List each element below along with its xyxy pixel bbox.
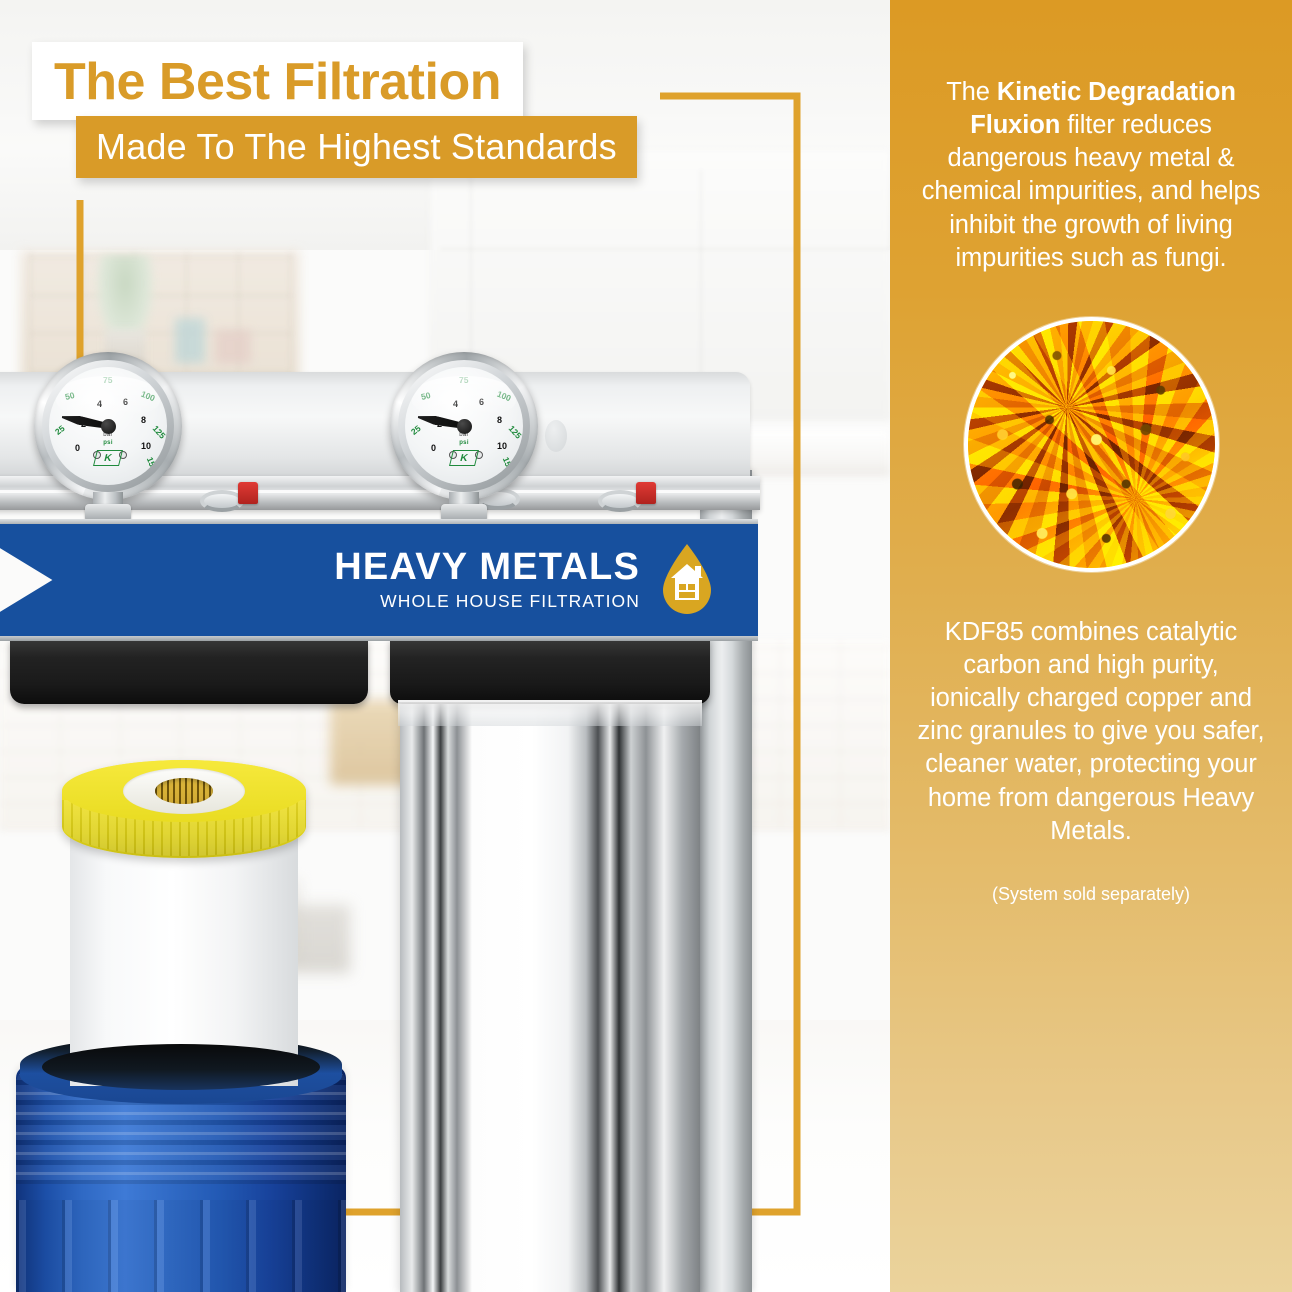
gauge-tick-psi: 75	[459, 375, 468, 385]
manifold-emblem	[545, 420, 567, 452]
housing-oring	[42, 1044, 320, 1090]
infographic-stage: 0 2 4 6 8 10 0 25 50 75 100 125 150 bar …	[0, 0, 1292, 1292]
gauge-tick-bar: 8	[497, 415, 502, 425]
gauge-tick-psi: 125	[507, 423, 523, 440]
banner-text-group: HEAVY METALS WHOLE HOUSE FILTRATION	[334, 548, 640, 611]
product-photo-scene: 0 2 4 6 8 10 0 25 50 75 100 125 150 bar …	[0, 0, 890, 1292]
banner-bottom-edge	[0, 636, 758, 641]
red-valve-cap	[238, 482, 258, 504]
housing-flutes	[16, 1200, 346, 1292]
gauge-tick-psi: 25	[53, 423, 67, 437]
filter-housing-cap-right	[390, 638, 710, 704]
page-title: The Best Filtration	[32, 42, 523, 120]
gauge-tick-bar: 6	[479, 397, 484, 407]
stainless-filter-housing	[400, 700, 700, 1292]
heavy-metals-banner: HEAVY METALS WHOLE HOUSE FILTRATION	[0, 524, 758, 636]
gauge-tick-psi: 50	[420, 390, 432, 402]
gauge-face: 0 2 4 6 8 10 0 25 50 75 100 125 150 bar …	[405, 367, 523, 485]
water-drop-house-icon	[658, 542, 716, 618]
gauge-tick-psi: 25	[409, 423, 423, 437]
pressure-gauge-right: 0 2 4 6 8 10 0 25 50 75 100 125 150 bar …	[390, 352, 538, 500]
gauge-face: 0 2 4 6 8 10 0 25 50 75 100 125 150 bar …	[49, 367, 167, 485]
gauge-tick-bar: 6	[123, 397, 128, 407]
gauge-tick-psi: 125	[151, 423, 167, 440]
paragraph-top-pre: The	[946, 78, 997, 106]
gauge-unit-psi: psi	[103, 440, 113, 446]
gauge-tick-bar: 4	[453, 399, 458, 409]
gauge-tick-bar: 10	[497, 441, 507, 451]
gauge-hub	[457, 419, 472, 434]
kdf85-granules-photo	[964, 317, 1219, 572]
pressure-gauge-left: 0 2 4 6 8 10 0 25 50 75 100 125 150 bar …	[34, 352, 182, 500]
page-subtitle: Made To The Highest Standards	[76, 116, 637, 178]
red-valve-cap	[636, 482, 656, 504]
subtitle-row: Made To The Highest Standards	[76, 116, 637, 178]
gauge-hub	[101, 419, 116, 434]
info-panel: The Kinetic Degradation Fluxion filter r…	[890, 0, 1292, 1292]
filter-housing-cap-left	[10, 638, 368, 704]
banner-title: HEAVY METALS	[334, 548, 640, 586]
gauge-brand-logo: K	[93, 450, 123, 466]
gauge-tick-psi: 50	[64, 390, 76, 402]
gauge-tick-bar: 0	[75, 443, 80, 453]
panel-paragraph-top: The Kinetic Degradation Fluxion filter r…	[916, 0, 1266, 275]
headline-group: The Best Filtration Made To The Highest …	[32, 42, 637, 178]
cartridge-port-slots	[155, 778, 213, 804]
gauge-brand-logo: K	[449, 450, 479, 466]
gauge-tick-bar: 4	[97, 399, 102, 409]
gauge-tick-bar: 10	[141, 441, 151, 451]
panel-disclaimer-note: (System sold separately)	[916, 884, 1266, 905]
banner-subtitle: WHOLE HOUSE FILTRATION	[334, 593, 640, 611]
gauge-tick-psi: 75	[103, 375, 112, 385]
gauge-unit-psi: psi	[459, 440, 469, 446]
housing-collar	[398, 700, 702, 726]
banner-top-edge	[0, 519, 758, 524]
gauge-tick-bar: 0	[431, 443, 436, 453]
panel-paragraph-bottom: KDF85 combines catalytic carbon and high…	[916, 616, 1266, 848]
gauge-tick-psi: 100	[496, 389, 513, 404]
gauge-tick-bar: 8	[141, 415, 146, 425]
gauge-tick-psi: 100	[140, 389, 157, 404]
